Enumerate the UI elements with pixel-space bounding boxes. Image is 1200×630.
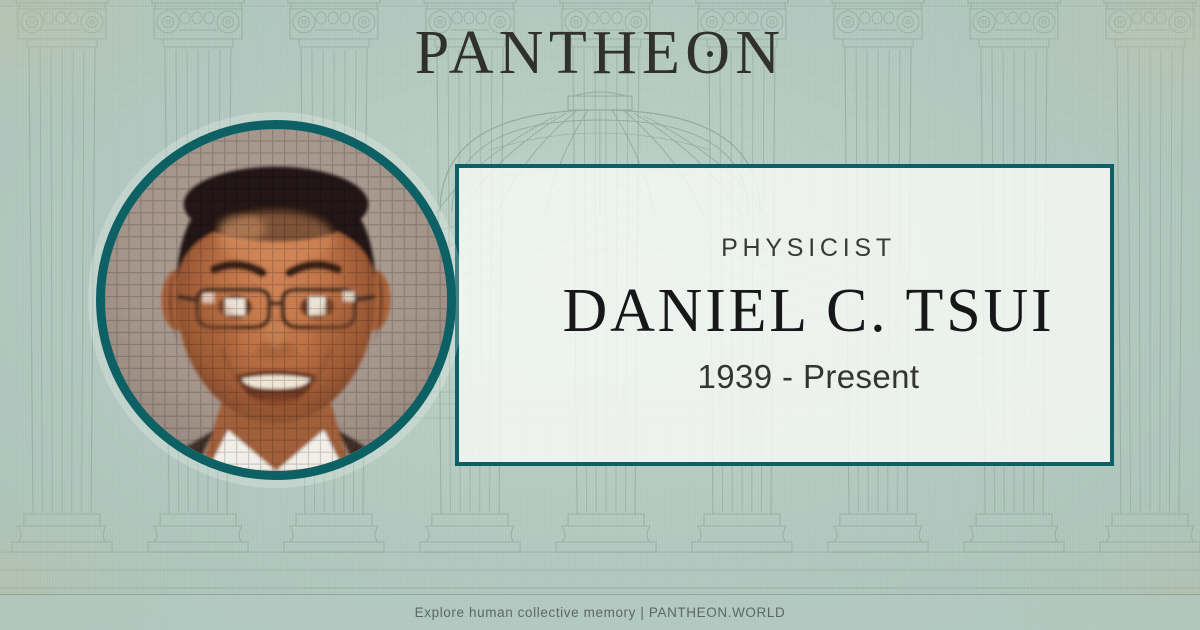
brand-title-wrapper: PANTHEON bbox=[0, 22, 1200, 84]
footer-text[interactable]: Explore human collective memory | PANTHE… bbox=[415, 605, 786, 620]
brand-title: PANTHEON bbox=[415, 22, 786, 84]
person-name: DANIEL C. TSUI bbox=[563, 279, 1055, 344]
brand-title-part1: PANTHE bbox=[415, 19, 685, 87]
platform-lines bbox=[0, 552, 1200, 588]
lifespan-label: 1939 - Present bbox=[697, 358, 919, 396]
brand-title-part2: N bbox=[735, 19, 785, 87]
footer-bar: Explore human collective memory | PANTHE… bbox=[0, 595, 1200, 630]
occupation-label: PHYSICIST bbox=[721, 234, 896, 263]
pantheon-profile-card: PANTHEON PHYSICIST DANIEL C. TSUI 1939 -… bbox=[0, 0, 1200, 630]
brand-title-oculus-o: O bbox=[685, 22, 735, 84]
portrait-frame bbox=[96, 120, 456, 480]
portrait-photo bbox=[105, 129, 447, 471]
profile-info-card: PHYSICIST DANIEL C. TSUI 1939 - Present bbox=[455, 164, 1114, 466]
